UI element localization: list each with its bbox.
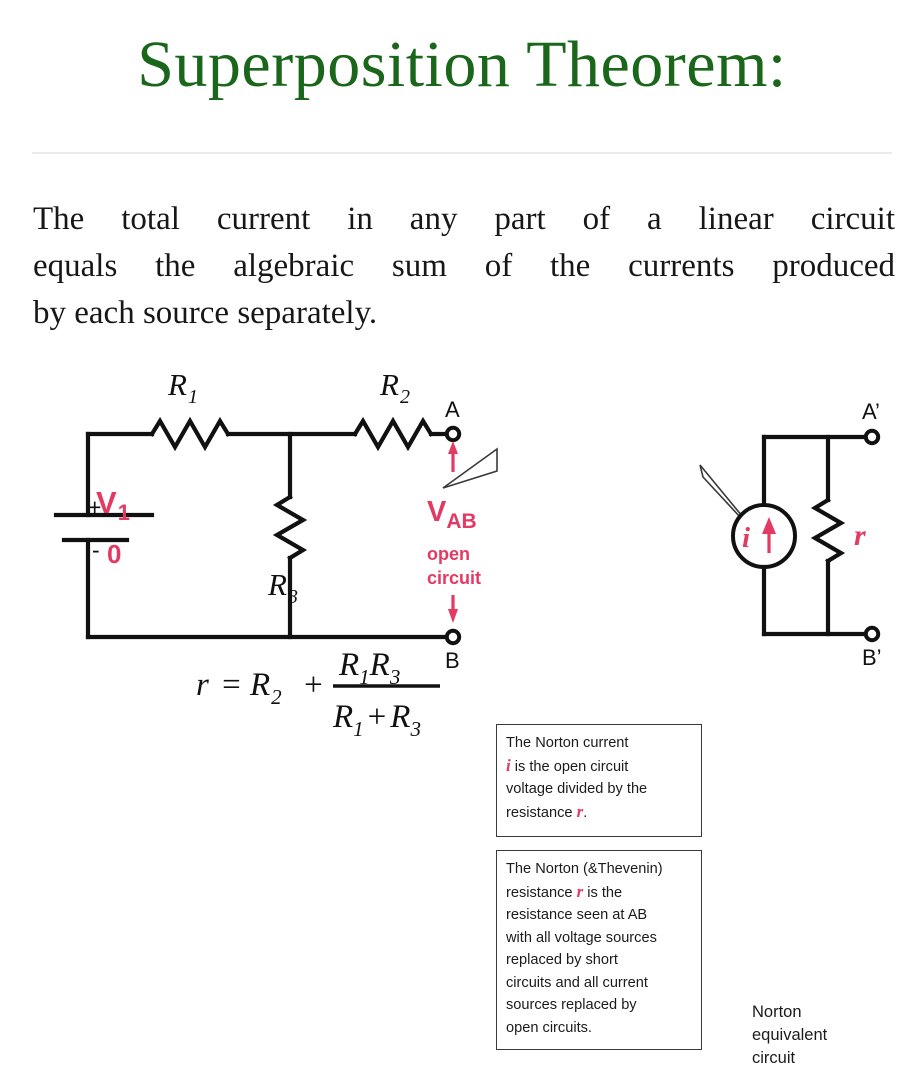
label-r2: R2 [379, 367, 410, 408]
callout-norton-resistance: The Norton (&Thevenin) resistance r is t… [496, 850, 702, 1050]
body-line-2: equals the algebraic sum of the currents… [33, 243, 895, 290]
callout2-line8: open circuits. [506, 1017, 693, 1040]
norton-equivalent-caption: Norton equivalent circuit [752, 1001, 872, 1070]
callout1-line1-text: The Norton current [506, 735, 628, 751]
resistor-r2-symbol [355, 421, 431, 447]
formula-den-plus: + [368, 699, 387, 735]
label-current-i: i [742, 522, 750, 554]
formula-den-b: R [389, 699, 410, 735]
resistor-r3-symbol [277, 497, 303, 558]
body-paragraph: The total current in any part of a linea… [33, 196, 895, 337]
vab-up-arrow-head [448, 441, 458, 454]
norton-caption-line3: circuit [752, 1047, 872, 1070]
label-plus-sign: + [88, 494, 101, 520]
terminal-b-node [447, 631, 459, 643]
label-vab-letter: V [427, 496, 447, 528]
formula-lhs-r: r [196, 667, 209, 703]
label-resistance-r: r [854, 519, 866, 552]
body-line-3-text: by each source separately. [33, 295, 377, 331]
label-r1-sub: 1 [188, 386, 198, 408]
label-r3-letter: R [267, 567, 287, 602]
callout1-line1: The Norton current [506, 732, 693, 755]
slide-page: Superposition Theorem: The total current… [0, 0, 924, 800]
callout-norton-current: The Norton current i is the open circuit… [496, 724, 702, 837]
label-source-sub: 1 [118, 500, 130, 525]
callout2-line1: The Norton (&Thevenin) [506, 858, 693, 881]
callout2-var-r: r [577, 882, 584, 901]
source-circuit-group: R1 R2 R3 V1 + - 0 A B [56, 367, 481, 673]
circuit-figure: R1 R2 R3 V1 + - 0 A B [0, 355, 924, 755]
label-circuit: circuit [427, 568, 481, 588]
formula-r2: R2 [249, 667, 282, 709]
title-divider [32, 152, 892, 154]
terminal-a-node [447, 428, 459, 440]
label-r1-letter: R [167, 367, 187, 402]
formula-den-a-sub: 1 [353, 717, 364, 741]
page-title: Superposition Theorem: [0, 26, 924, 104]
callout1-line2: i is the open circuit [506, 755, 693, 779]
formula-num-b: R [369, 647, 390, 683]
callout2-line7: sources replaced by [506, 994, 693, 1017]
callout-pointer-left [443, 449, 497, 488]
circuit-svg: R1 R2 R3 V1 + - 0 A B [0, 355, 924, 755]
label-terminal-a: A [445, 397, 460, 422]
label-terminal-b: B [445, 648, 460, 673]
formula-group: r = R2 + R1R3 R1+R3 [196, 647, 440, 741]
body-line-1-text: The total current in any part of a linea… [33, 201, 895, 237]
norton-caption-line2: equivalent [752, 1024, 872, 1047]
callout2-line2-tail: is the [583, 885, 622, 901]
label-r1: R1 [167, 367, 198, 408]
norton-terminal-b-node [866, 628, 878, 640]
callout2-line2-text: resistance [506, 885, 577, 901]
label-r2-sub: 2 [400, 386, 410, 408]
label-r3: R3 [267, 567, 298, 608]
callout2-line2: resistance r is the [506, 881, 693, 905]
body-line-3: by each source separately. [33, 290, 895, 337]
resistor-r1-symbol [152, 421, 228, 447]
formula-lhs: r [196, 667, 209, 703]
callout2-line5: replaced by short [506, 949, 693, 972]
callout1-line2-text: is the open circuit [511, 759, 629, 775]
callout1-var-r: r [577, 802, 584, 821]
label-source-zero: 0 [107, 539, 121, 569]
formula-num-a: R [338, 647, 359, 683]
formula-r2-letter: R [249, 667, 270, 703]
label-r2-letter: R [379, 367, 399, 402]
label-r3-sub: 3 [287, 586, 298, 608]
label-open: open [427, 544, 470, 564]
callout2-line6: circuits and all current [506, 972, 693, 995]
formula-den-a: R [332, 699, 353, 735]
callout1-line4: resistance r. [506, 801, 693, 825]
norton-resistor-symbol [815, 500, 841, 561]
callout1-line4-period: . [583, 805, 587, 821]
norton-terminal-a-node [866, 431, 878, 443]
formula-numerator: R1R3 [338, 647, 400, 689]
callout2-line4: with all voltage sources [506, 927, 693, 950]
formula-r2-sub: 2 [271, 685, 282, 709]
vab-down-arrow-head [448, 609, 458, 623]
label-minus-sign: - [92, 537, 100, 563]
body-line-2-text: equals the algebraic sum of the currents… [33, 248, 895, 284]
label-terminal-a-prime: A’ [862, 399, 880, 424]
callout2-line3: resistance seen at AB [506, 904, 693, 927]
norton-caption-line1: Norton [752, 1001, 872, 1024]
formula-equals: = [220, 667, 242, 703]
formula-denominator: R1+R3 [332, 699, 421, 741]
callout1-line3: voltage divided by the [506, 778, 693, 801]
formula-plus: + [302, 667, 324, 703]
formula-den-b-sub: 3 [409, 717, 421, 741]
label-vab-sub: AB [446, 510, 476, 533]
label-vab: VAB [427, 496, 477, 533]
body-line-1: The total current in any part of a linea… [33, 196, 895, 243]
callout1-line4-text: resistance [506, 805, 577, 821]
label-terminal-b-prime: B’ [862, 645, 882, 670]
norton-circuit-group: i r A’ B’ [733, 399, 882, 670]
